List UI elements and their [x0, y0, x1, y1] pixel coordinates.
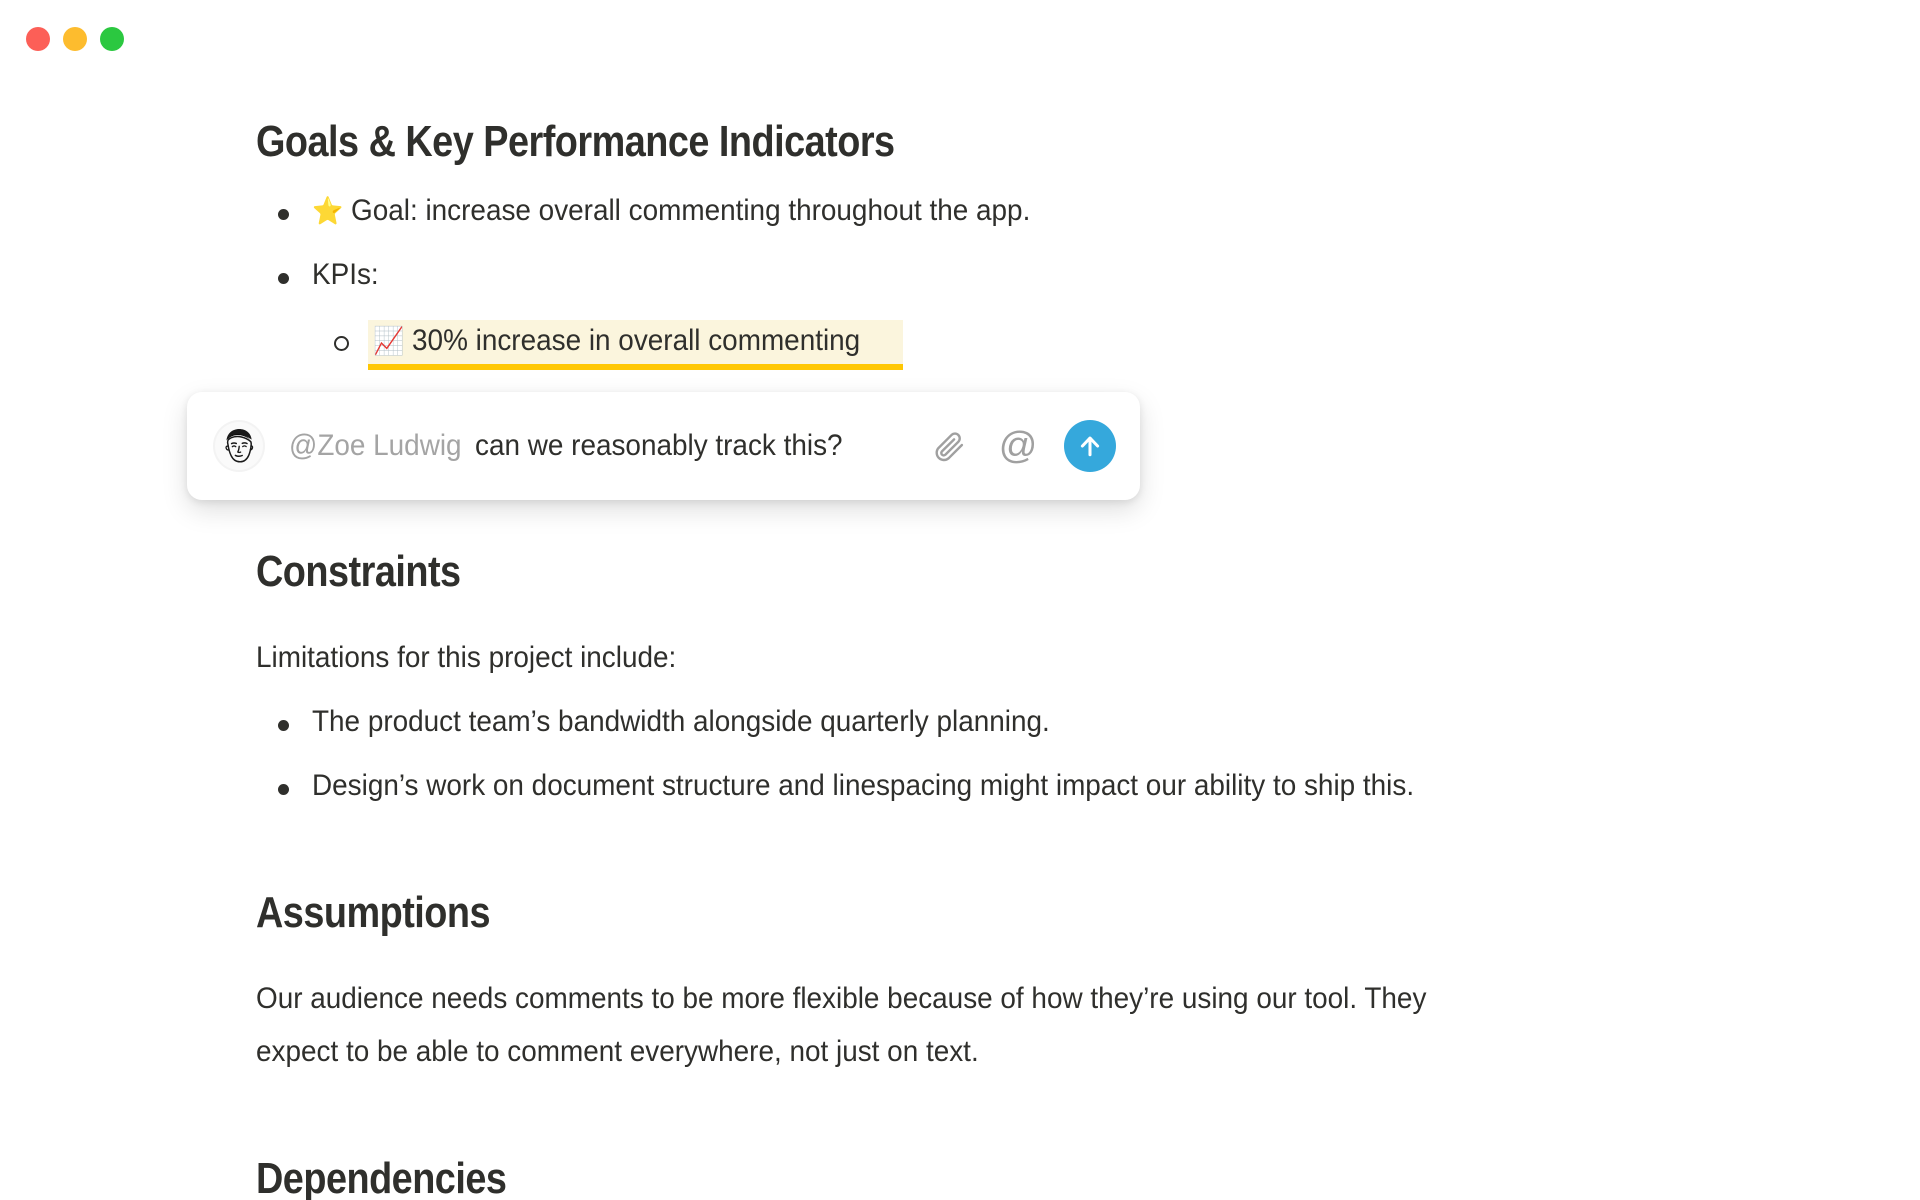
close-window-button[interactable] — [26, 27, 50, 51]
maximize-window-button[interactable] — [100, 27, 124, 51]
list-item[interactable]: Design’s work on document structure and … — [256, 767, 1800, 805]
list-item-label: Design’s work on document structure and … — [312, 767, 1414, 805]
comment-body-text: can we reasonably track this? — [475, 428, 843, 464]
comment-popup-actions: @ — [928, 420, 1116, 472]
list-item[interactable]: The product team’s bandwidth alongside q… — [256, 703, 1800, 741]
spacer — [256, 677, 1800, 703]
comment-composer-popup[interactable]: @Zoe Ludwig can we reasonably track this… — [187, 392, 1140, 500]
paperclip-icon — [933, 429, 967, 463]
comment-input[interactable]: @Zoe Ludwig can we reasonably track this… — [289, 428, 910, 464]
list-item-label: KPIs: — [312, 258, 379, 291]
kpi-label: 30% increase in overall commenting — [412, 324, 860, 357]
app-window: Goals & Key Performance Indicators ⭐ Goa… — [0, 0, 1920, 1200]
list-item[interactable]: ⭐ Goal: increase overall commenting thro… — [256, 192, 1800, 230]
heading-dependencies: Dependencies — [256, 1155, 1584, 1200]
kpi-highlighted-text[interactable]: 📈 30% increase in overall commenting — [368, 320, 903, 369]
list-item[interactable]: KPIs: — [256, 256, 1800, 294]
send-comment-button[interactable] — [1064, 420, 1116, 472]
assumptions-paragraph-line-2: expect to be able to comment everywhere,… — [256, 1032, 1792, 1071]
mention-user-button[interactable]: @ — [996, 424, 1040, 468]
goals-bullet-list: ⭐ Goal: increase overall commenting thro… — [256, 192, 1800, 295]
heading-constraints: Constraints — [256, 548, 1584, 596]
avatar — [213, 420, 265, 472]
heading-assumptions: Assumptions — [256, 889, 1584, 937]
constraints-intro: Limitations for this project include: — [256, 638, 1792, 677]
spacer — [256, 805, 1800, 889]
spacer — [256, 1071, 1800, 1155]
document-content: Goals & Key Performance Indicators ⭐ Goa… — [0, 78, 1920, 1200]
minimize-window-button[interactable] — [63, 27, 87, 51]
spacer — [256, 166, 1800, 192]
arrow-up-icon — [1076, 432, 1104, 460]
attach-file-button[interactable] — [928, 424, 972, 468]
spacer — [256, 294, 1800, 320]
at-icon: @ — [999, 427, 1038, 465]
chart-increasing-icon: 📈 — [373, 326, 404, 357]
constraints-bullet-list: The product team’s bandwidth alongside q… — [256, 703, 1800, 806]
list-item[interactable]: 📈 30% increase in overall commenting — [256, 320, 1800, 369]
mention-token: @Zoe Ludwig — [289, 428, 462, 464]
assumptions-paragraph-line-1: Our audience needs comments to be more f… — [256, 979, 1792, 1018]
heading-goals: Goals & Key Performance Indicators — [256, 118, 1584, 166]
traffic-light-controls — [26, 27, 124, 51]
list-item-label: Goal: increase overall commenting throug… — [351, 194, 1030, 227]
spacer — [256, 937, 1800, 979]
window-titlebar — [0, 0, 1920, 78]
list-item-label: The product team’s bandwidth alongside q… — [312, 703, 1050, 741]
star-icon: ⭐ — [312, 196, 343, 227]
spacer — [256, 596, 1800, 638]
